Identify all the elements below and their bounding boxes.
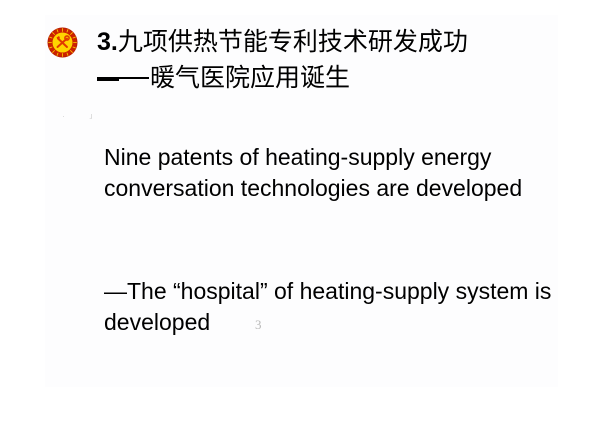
slide-title: 3.九项供热节能专利技术研发成功 暖气医院应用诞生 xyxy=(97,26,557,95)
title-line-subtitle: 暖气医院应用诞生 xyxy=(97,62,557,95)
title-subtitle-text: 暖气医院应用诞生 xyxy=(150,64,350,92)
margin-artifact-marks: · ɹ xyxy=(62,110,106,126)
title-heading-text: 九项供热节能专利技术研发成功 xyxy=(118,28,468,56)
slide: 3.九项供热节能专利技术研发成功 暖气医院应用诞生 · ɹ Nine paten… xyxy=(0,0,600,424)
page-number: 3 xyxy=(255,318,262,331)
title-line-primary: 3.九项供热节能专利技术研发成功 xyxy=(97,26,557,59)
body-paragraph-hospital: —The “hospital” of heating-supply system… xyxy=(104,276,556,338)
organization-emblem-icon xyxy=(47,27,78,58)
body-paragraph-patents: Nine patents of heating-supply energy co… xyxy=(104,142,556,204)
title-number: 3. xyxy=(97,28,118,56)
hyphen-rule xyxy=(119,77,149,79)
em-dash-rule xyxy=(97,77,119,81)
